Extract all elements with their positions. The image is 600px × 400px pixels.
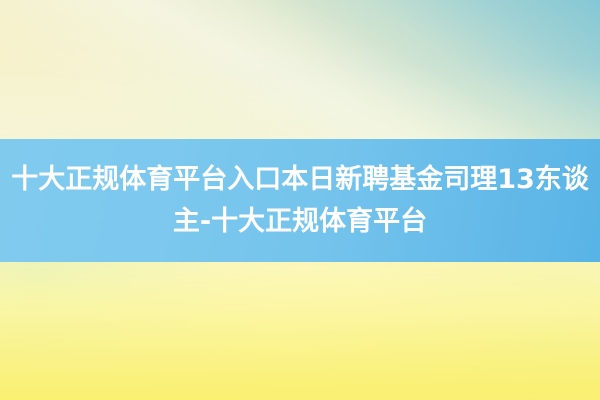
banner-headline: 十大正规体育平台入口本日新聘基金司理13东谈主-十大正规体育平台 — [10, 159, 590, 243]
banner-image: 十大正规体育平台入口本日新聘基金司理13东谈主-十大正规体育平台 — [0, 0, 600, 400]
title-band: 十大正规体育平台入口本日新聘基金司理13东谈主-十大正规体育平台 — [0, 139, 600, 262]
